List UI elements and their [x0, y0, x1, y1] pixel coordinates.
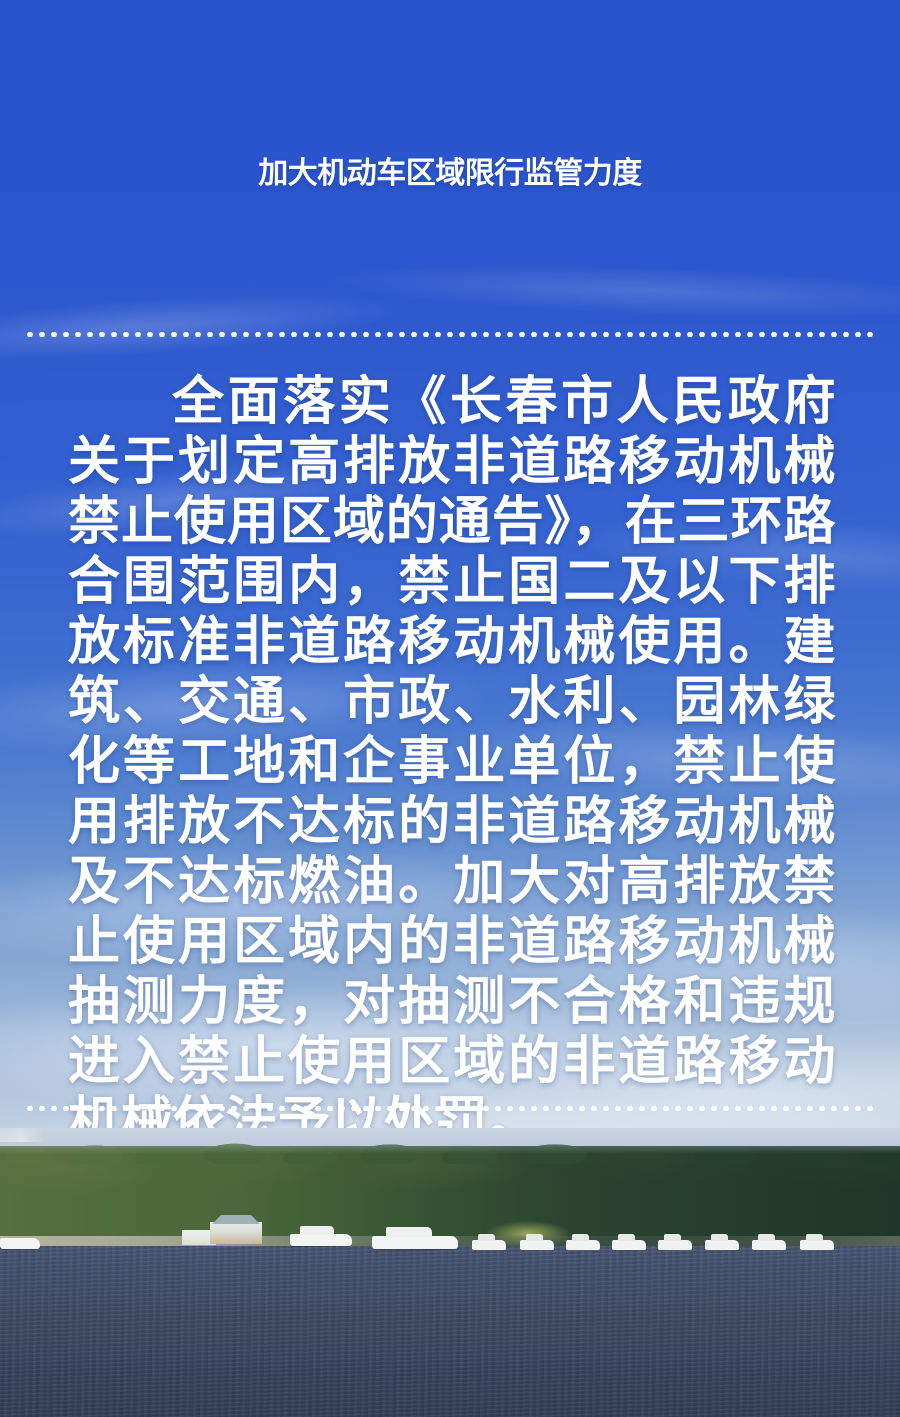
poster-root: 加大机动车区域限行监管力度 全面落实《长春市人民政府关于划定高排放非道路移动机械… — [0, 0, 900, 1417]
white-yacht — [372, 1236, 458, 1249]
moored-boat — [472, 1240, 506, 1250]
cloud-wisp-icon — [329, 257, 900, 325]
treeline-canopy — [0, 1142, 900, 1164]
moored-boat — [520, 1240, 554, 1250]
white-yacht — [0, 1238, 40, 1249]
lake-water — [0, 1246, 900, 1417]
moored-boat — [800, 1240, 834, 1250]
lake-photo — [0, 1128, 900, 1417]
moored-boat — [566, 1240, 600, 1250]
body-paragraph: 全面落实《长春市人民政府关于划定高排放非道路移动机械禁止使用区域的通告》，在三环… — [68, 372, 836, 1152]
moored-boat — [658, 1240, 692, 1250]
moored-boat — [612, 1240, 646, 1250]
cloud-wisp-icon — [0, 282, 401, 372]
page-title: 加大机动车区域限行监管力度 — [0, 133, 900, 215]
moored-boat — [752, 1240, 786, 1250]
tower-base — [0, 1128, 44, 1142]
dotted-divider-bottom — [24, 1106, 876, 1111]
moored-boat — [705, 1240, 739, 1250]
dotted-divider-top — [24, 332, 876, 337]
white-yacht — [290, 1234, 352, 1246]
shoreline-building — [210, 1222, 262, 1244]
